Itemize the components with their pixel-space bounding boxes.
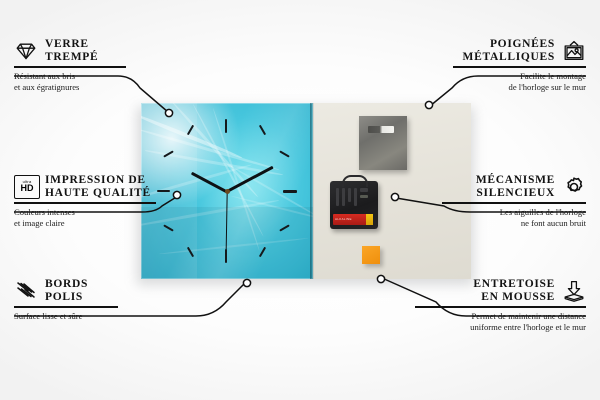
battery-terminal [366,214,373,225]
gear-icon [562,175,586,199]
minute-hand [226,166,273,193]
second-hand [225,191,227,249]
callout-entretoise-en-mousse[interactable]: ENTRETOISE EN MOUSSE Permet de maintenir… [401,278,586,333]
callout-description-line2: et aux égratignures [14,82,189,93]
callout-divider [442,202,586,204]
clock-hub [225,189,230,194]
callout-title-line1: IMPRESSION DE [45,174,151,187]
hanger-slot [368,126,394,133]
callout-bords-polis[interactable]: BORDS POLIS Surface lisse et sûre [14,278,189,322]
callout-mecanisme-silencieux[interactable]: MÉCANISME SILENCIEUX Les aiguilles de l'… [411,174,586,229]
callout-verre-trempe[interactable]: VERRE TREMPÉ Résistant aux bris et aux é… [14,38,189,93]
infographic-canvas: ALKALINE [0,0,600,400]
mechanism-hanging-loop [342,175,368,187]
picture-frame-hanging-icon [562,39,586,63]
callout-title-line1: MÉCANISME [476,174,555,187]
callout-description-line1: Permet de maintenir une distance [401,311,586,322]
callout-description-line2: uniforme entre l'horloge et le mur [401,322,586,333]
callout-description-line2: de l'horloge sur le mur [411,82,586,93]
callout-description-line1: Facilite le montage [411,71,586,82]
callout-title-line2: EN MOUSSE [473,291,555,304]
callout-title-line2: POLIS [45,291,88,304]
callout-description-line2: ne font aucun bruit [411,218,586,229]
hour-hand [191,171,228,193]
callout-title-line2: MÉTALLIQUES [463,51,555,64]
callout-impression-haute-qualite[interactable]: ultra HD IMPRESSION DE HAUTE QUALITÉ Cou… [14,174,189,229]
callout-title-line2: TREMPÉ [45,51,98,64]
callout-poignees-metalliques[interactable]: POIGNÉES MÉTALLIQUES Facilite le montage… [411,38,586,93]
callout-description-line2: et image claire [14,218,189,229]
callout-description-line1: Couleurs intenses [14,207,189,218]
callout-title-line1: VERRE [45,38,98,51]
callout-description-line1: Résistant aux bris [14,71,189,82]
metal-hanger-plate [359,116,407,170]
ultra-hd-icon-main-text: HD [21,184,34,193]
callout-title-line2: SILENCIEUX [476,187,555,200]
polished-edges-icon [14,279,38,303]
callout-description-line1: Les aiguilles de l'horloge [411,207,586,218]
callout-divider [415,306,586,308]
callout-title-line1: POIGNÉES [463,38,555,51]
ultra-hd-icon: ultra HD [14,175,38,199]
battery: ALKALINE [333,214,373,225]
callout-title-line2: HAUTE QUALITÉ [45,187,151,200]
diamond-icon [14,39,38,63]
battery-label: ALKALINE [335,217,352,221]
callout-divider [14,202,156,204]
callout-description-line1: Surface lisse et sûre [14,311,189,322]
spacer-down-arrow-icon [562,279,586,303]
callout-title-line1: BORDS [45,278,88,291]
callout-divider [14,306,118,308]
callout-divider [14,66,126,68]
clock-mechanism: ALKALINE [330,181,378,229]
callout-title-line1: ENTRETOISE [473,278,555,291]
callout-divider [453,66,586,68]
foam-spacer [362,246,380,264]
